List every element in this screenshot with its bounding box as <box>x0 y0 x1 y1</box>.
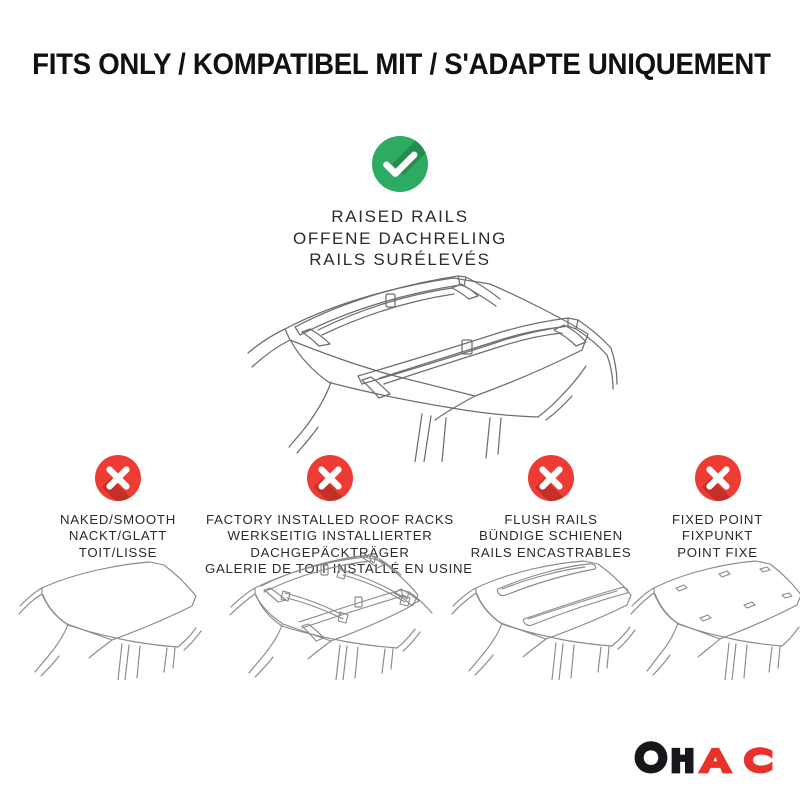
red-x-circle-icon <box>528 455 574 501</box>
infographic-page: FITS ONLY / KOMPATIBEL MIT / S'ADAPTE UN… <box>0 0 800 800</box>
incompatible-label-de: NACKT/GLATT <box>18 528 218 544</box>
incompatible-item-fixed-point: FIXED POINT FIXPUNKT POINT FIXE <box>635 455 800 561</box>
incompatible-labels: FIXED POINT FIXPUNKT POINT FIXE <box>635 512 800 561</box>
compatible-label-de: OFFENE DACHRELING <box>0 228 800 250</box>
compatible-label-en: RAISED RAILS <box>0 206 800 228</box>
incompatible-labels: FLUSH RAILS BÜNDIGE SCHIENEN RAILS ENCAS… <box>451 512 651 561</box>
red-x-circle-icon <box>95 455 141 501</box>
x-glyph <box>95 455 141 501</box>
x-glyph <box>307 455 353 501</box>
car-roof-naked-smooth-illustration <box>12 560 202 680</box>
page-title-text: FITS ONLY / KOMPATIBEL MIT / S'ADAPTE UN… <box>32 48 771 82</box>
compatible-section: RAISED RAILS OFFENE DACHRELING RAILS SUR… <box>0 136 800 271</box>
car-roof-with-raised-rails-illustration <box>190 272 630 462</box>
incompatible-label-de-1: WERKSEITIG INSTALLIERTER <box>205 528 455 544</box>
incompatible-label-de: FIXPUNKT <box>635 528 800 544</box>
green-check-circle-icon <box>372 136 428 192</box>
incompatible-label-en: FIXED POINT <box>635 512 800 528</box>
compatible-labels: RAISED RAILS OFFENE DACHRELING RAILS SUR… <box>0 206 800 271</box>
compatible-label-fr: RAILS SURÉLEVÉS <box>0 249 800 271</box>
car-roof-fixed-points-illustration <box>624 558 800 680</box>
incompatible-label-en: NAKED/SMOOTH <box>18 512 218 528</box>
red-x-circle-icon <box>695 455 741 501</box>
incompatible-item-flush-rails: FLUSH RAILS BÜNDIGE SCHIENEN RAILS ENCAS… <box>451 455 651 561</box>
car-roof-factory-roof-rack-illustration <box>213 548 438 680</box>
incompatible-label-en: FACTORY INSTALLED ROOF RACKS <box>205 512 455 528</box>
x-glyph <box>528 455 574 501</box>
incompatible-label-en: FLUSH RAILS <box>451 512 651 528</box>
x-glyph <box>695 455 741 501</box>
incompatible-labels: NAKED/SMOOTH NACKT/GLATT TOIT/LISSE <box>18 512 218 561</box>
incompatible-item-naked-smooth: NAKED/SMOOTH NACKT/GLATT TOIT/LISSE <box>18 455 218 561</box>
incompatible-label-de: BÜNDIGE SCHIENEN <box>451 528 651 544</box>
page-title: FITS ONLY / KOMPATIBEL MIT / S'ADAPTE UN… <box>0 48 800 82</box>
check-glyph <box>372 136 428 192</box>
omac-logo <box>634 740 774 774</box>
car-roof-flush-rails-illustration <box>444 558 639 680</box>
red-x-circle-icon <box>307 455 353 501</box>
incompatible-label-fr: TOIT/LISSE <box>18 545 218 561</box>
